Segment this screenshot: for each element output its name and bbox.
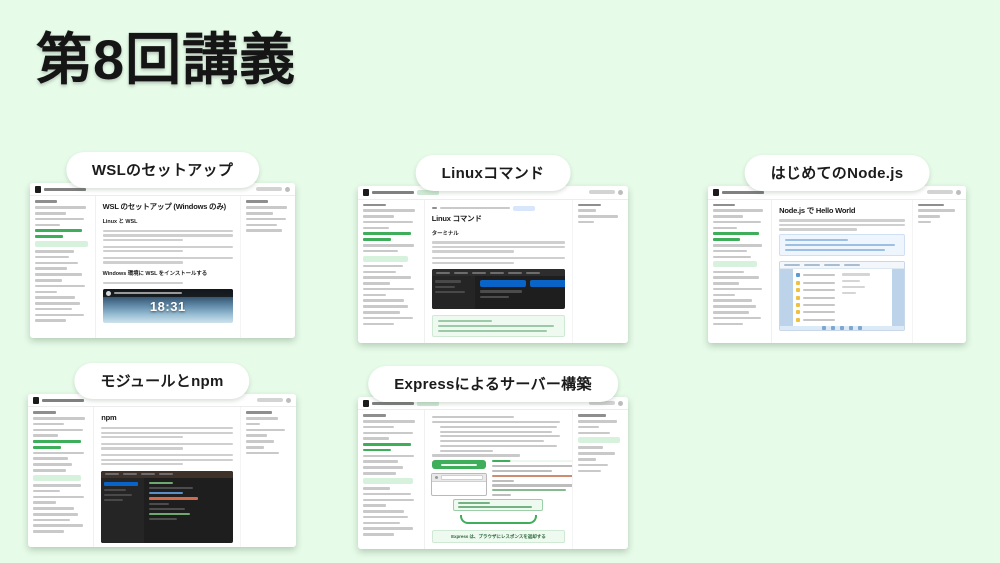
vscode-editor[interactable]: [144, 478, 233, 543]
thumbnail-hello-nodejs[interactable]: Node.js で Hello World: [708, 186, 966, 343]
theme-toggle-icon[interactable]: [618, 190, 623, 195]
secondary-button[interactable]: [530, 280, 565, 287]
card-label-hello-nodejs: はじめてのNode.js: [745, 155, 930, 191]
address-bar[interactable]: [441, 475, 483, 481]
brace-connector: [460, 515, 537, 524]
doc-toc[interactable]: [240, 407, 296, 547]
taskbar-icon[interactable]: [858, 326, 862, 330]
doc-sidebar-nav[interactable]: [358, 410, 425, 549]
theme-toggle-icon[interactable]: [286, 398, 291, 403]
doc-heading: npm: [101, 413, 233, 422]
site-name: [44, 188, 86, 191]
folder-icon: [796, 288, 800, 292]
express-demo: [432, 460, 565, 496]
desktop-background: [780, 269, 792, 325]
file-explorer-screenshot: [779, 261, 905, 331]
doc-paragraph: [101, 454, 233, 465]
doc-heading: WSL のセットアップ (Windows のみ): [103, 202, 233, 211]
terminal-content: [475, 276, 565, 309]
doc-section-heading: ターミナル: [432, 229, 565, 237]
site-logo-icon: [35, 186, 41, 193]
desktop-background: [892, 269, 904, 325]
video-player[interactable]: 18:31: [103, 289, 233, 323]
site-name: [372, 191, 414, 194]
browser-toolbar: [432, 474, 486, 482]
doc-sidebar-nav[interactable]: [358, 200, 425, 343]
code-snippet: [492, 465, 572, 496]
doc-content: npm: [94, 407, 240, 547]
primary-button[interactable]: [480, 280, 526, 287]
card-express-server[interactable]: Expressによるサーバー構築: [358, 366, 628, 556]
doc-paragraph: [103, 282, 233, 284]
doc-paragraph: [103, 246, 233, 253]
thumbnail-linux-commands[interactable]: Linux コマンド ターミナル: [358, 186, 628, 343]
browser-preview[interactable]: [431, 473, 487, 496]
video-avatar-icon: [106, 291, 111, 296]
doc-toc[interactable]: [572, 200, 628, 343]
card-modules-npm[interactable]: モジュールとnpm: [28, 363, 296, 553]
explorer-file-list[interactable]: [838, 269, 892, 325]
slide: 第8回講義 WSLのセットアップ: [0, 0, 1000, 563]
card-hello-nodejs[interactable]: はじめてのNode.js: [708, 155, 966, 345]
doc-sidebar-nav[interactable]: [708, 200, 772, 343]
doc-paragraph: [103, 230, 233, 241]
terminal-screenshot: [432, 269, 565, 309]
doc-paragraph: [101, 427, 233, 438]
doc-section-heading-2: Windows 環境に WSL をインストールする: [103, 269, 233, 277]
explorer-toolbar: [780, 262, 904, 269]
site-logo-icon: [363, 189, 369, 196]
vscode-screenshot: [101, 471, 233, 543]
site-logo-icon: [33, 397, 39, 404]
folder-icon: [796, 303, 800, 307]
taskbar-icon[interactable]: [849, 326, 853, 330]
run-button[interactable]: [432, 460, 486, 469]
header-chip: [256, 187, 282, 191]
explorer-tree[interactable]: [793, 269, 839, 325]
site-name: [42, 399, 84, 402]
endpoint-button[interactable]: [492, 460, 572, 462]
doc-content: Node.js で Hello World: [772, 200, 912, 343]
header-chip: [927, 190, 953, 194]
terminal-menu-bar: [432, 269, 565, 276]
doc-paragraph: [432, 257, 565, 264]
doc-toc[interactable]: [572, 410, 628, 549]
doc-paragraph: [103, 257, 233, 264]
folder-icon: [796, 318, 800, 322]
doc-content: Linux コマンド ターミナル: [425, 200, 572, 343]
video-timestamp: 18:31: [150, 299, 186, 314]
folder-icon: [796, 281, 800, 285]
doc-heading: Linux コマンド: [432, 214, 565, 223]
browser-dot-icon: [435, 476, 438, 479]
site-logo-icon: [363, 400, 369, 407]
doc-section-heading: Linux と WSL: [103, 217, 233, 225]
folder-icon: [796, 310, 800, 314]
site-name: [722, 191, 764, 194]
taskbar-icon[interactable]: [822, 326, 826, 330]
theme-toggle-icon[interactable]: [285, 187, 290, 192]
card-label-linux-commands: Linuxコマンド: [416, 155, 571, 191]
selected-file[interactable]: [104, 482, 138, 486]
terminal-sidebar: [432, 276, 475, 309]
ordered-list: [432, 416, 565, 456]
page-title: 第8回講義: [36, 28, 296, 92]
windows-taskbar[interactable]: [780, 326, 904, 331]
diagram-caption: Express は、ブラウザにレスポンスを返却する: [432, 530, 565, 543]
breadcrumb-badge: [513, 206, 535, 211]
doc-content: Express は、ブラウザにレスポンスを返却する: [425, 410, 572, 549]
header-chip: [257, 398, 283, 402]
card-wsl-setup[interactable]: WSLのセットアップ: [30, 152, 295, 338]
doc-sidebar-nav[interactable]: [30, 196, 96, 338]
card-linux-commands[interactable]: Linuxコマンド: [358, 155, 628, 345]
folder-icon: [796, 273, 800, 277]
site-logo-icon: [713, 189, 719, 196]
video-title-bar: [103, 289, 233, 296]
card-label-express-server: Expressによるサーバー構築: [368, 366, 618, 402]
breadcrumb[interactable]: [432, 206, 565, 211]
vscode-explorer[interactable]: [101, 478, 144, 543]
doc-paragraph: [101, 443, 233, 450]
thumbnail-modules-npm[interactable]: npm: [28, 394, 296, 547]
doc-paragraph: [432, 241, 565, 252]
card-label-wsl-setup: WSLのセットアップ: [66, 152, 259, 188]
site-name: [372, 402, 414, 405]
folder-icon: [796, 296, 800, 300]
header-chip: [589, 190, 615, 194]
doc-content: WSL のセットアップ (Windows のみ) Linux と WSL Win…: [96, 196, 240, 338]
vscode-title-bar: [101, 471, 233, 478]
theme-toggle-icon[interactable]: [618, 401, 623, 406]
response-bubble: [453, 499, 543, 511]
card-label-modules-npm: モジュールとnpm: [74, 363, 249, 399]
doc-toc[interactable]: [240, 196, 295, 338]
doc-toc[interactable]: [912, 200, 966, 343]
info-callout: [779, 234, 905, 256]
doc-sidebar-nav[interactable]: [28, 407, 94, 547]
thumbnail-express-server[interactable]: Express は、ブラウザにレスポンスを返却する: [358, 397, 628, 549]
doc-paragraph: [779, 219, 905, 230]
taskbar-icon[interactable]: [831, 326, 835, 330]
note-callout: [432, 315, 565, 337]
thumbnail-wsl-setup[interactable]: WSL のセットアップ (Windows のみ) Linux と WSL Win…: [30, 183, 295, 338]
doc-heading: Node.js で Hello World: [779, 206, 905, 215]
taskbar-icon[interactable]: [840, 326, 844, 330]
theme-toggle-icon[interactable]: [956, 190, 961, 195]
